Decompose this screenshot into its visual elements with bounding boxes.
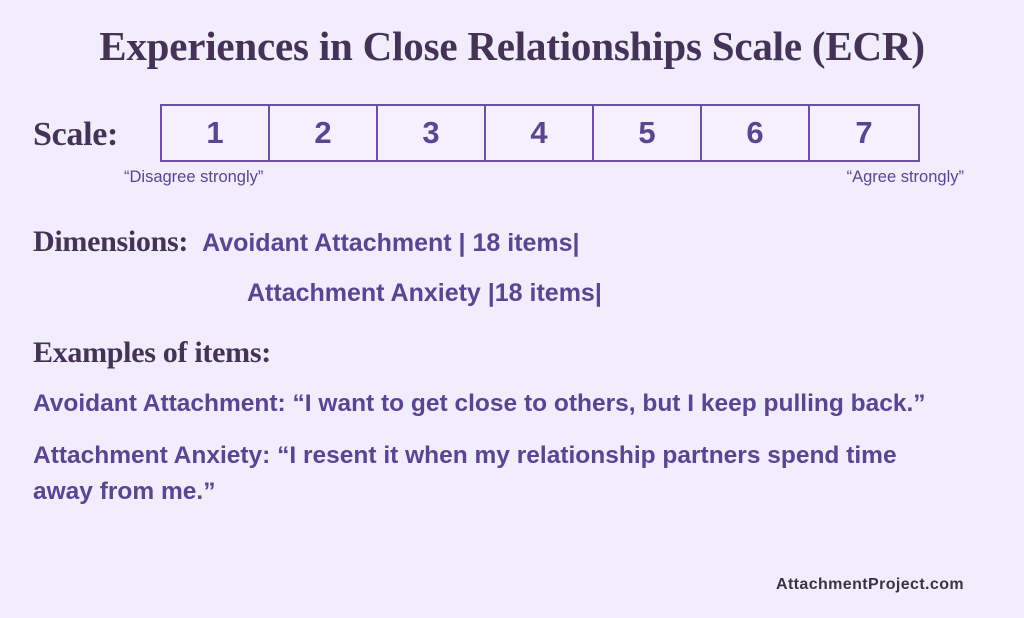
examples-heading: Examples of items: <box>33 336 993 370</box>
dimensions-heading: Dimensions: <box>33 225 188 259</box>
scale-point-5: 5 <box>594 106 702 160</box>
scale-point-4: 4 <box>486 106 594 160</box>
examples-section: Examples of items: Avoidant Attachment: … <box>33 336 993 525</box>
example-item-avoidant: Avoidant Attachment: “I want to get clos… <box>33 386 938 422</box>
scale-section: Scale: 1 2 3 4 5 6 7 <box>33 104 993 162</box>
footer-attribution: AttachmentProject.com <box>776 576 964 594</box>
example-item-anxiety: Attachment Anxiety: “I resent it when my… <box>33 438 938 510</box>
scale-point-7: 7 <box>810 106 918 160</box>
dimensions-section: Dimensions: Avoidant Attachment | 18 ite… <box>33 225 983 308</box>
dimension-item-anxiety: Attachment Anxiety |18 items| <box>247 279 983 308</box>
dimensions-first-row: Dimensions: Avoidant Attachment | 18 ite… <box>33 225 983 259</box>
anchor-label-high: “Agree strongly” <box>847 168 964 187</box>
scale-label: Scale: <box>33 116 118 154</box>
scale-point-6: 6 <box>702 106 810 160</box>
scale-point-2: 2 <box>270 106 378 160</box>
scale-point-3: 3 <box>378 106 486 160</box>
scale-anchor-labels: “Disagree strongly” “Agree strongly” <box>0 168 1024 190</box>
page-title: Experiences in Close Relationships Scale… <box>0 22 1024 70</box>
anchor-label-low: “Disagree strongly” <box>124 168 263 187</box>
dimension-item-avoidant: Avoidant Attachment | 18 items| <box>202 229 580 258</box>
scale-point-1: 1 <box>162 106 270 160</box>
scale-point-table: 1 2 3 4 5 6 7 <box>160 104 920 162</box>
ecr-infographic: Experiences in Close Relationships Scale… <box>0 0 1024 618</box>
